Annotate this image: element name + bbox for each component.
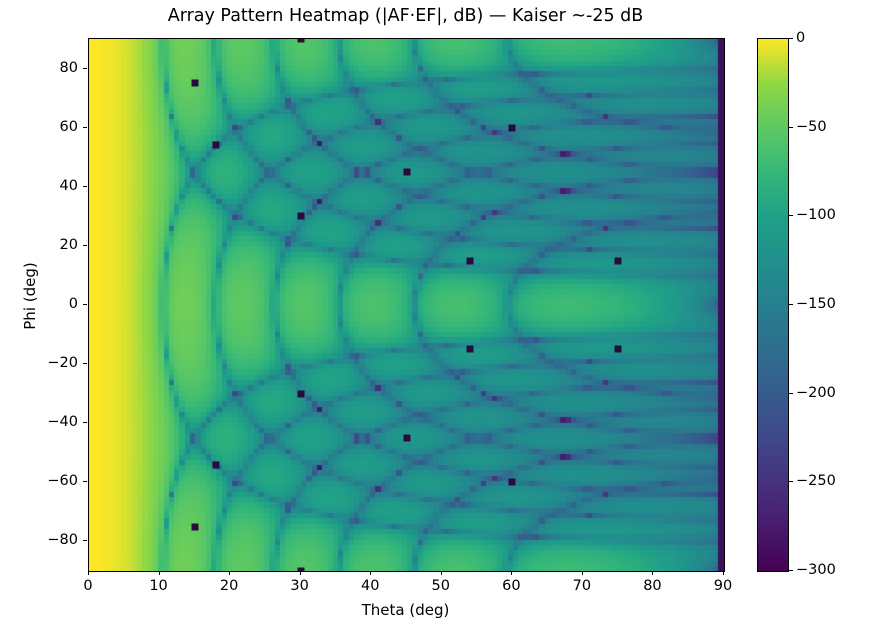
y-tick-label: 40 <box>60 178 78 194</box>
null-marker <box>297 38 304 43</box>
colorbar-tick-label: −200 <box>796 385 836 401</box>
null-marker <box>191 523 198 530</box>
colorbar-tick <box>789 215 793 216</box>
y-tick <box>83 481 87 482</box>
y-tick-label: −20 <box>47 355 78 371</box>
colorbar-tick-label: 0 <box>796 30 805 46</box>
y-tick <box>83 422 87 423</box>
colorbar-tick <box>789 570 793 571</box>
null-marker <box>213 142 220 149</box>
y-tick-label: −60 <box>47 473 78 489</box>
y-tick <box>83 68 87 69</box>
x-tick <box>652 571 653 575</box>
colorbar-tick <box>789 127 793 128</box>
x-tick <box>723 571 724 575</box>
colorbar-gradient <box>758 39 788 571</box>
x-tick-label: 40 <box>361 578 379 594</box>
colorbar-tick <box>789 38 793 39</box>
x-tick <box>88 571 89 575</box>
null-marker <box>297 568 304 573</box>
null-marker <box>297 390 304 397</box>
x-tick-label: 20 <box>220 578 238 594</box>
colorbar[interactable] <box>757 38 789 572</box>
y-tick-label: 0 <box>69 296 78 312</box>
y-tick-label: 80 <box>60 60 78 76</box>
null-marker-layer <box>89 39 724 571</box>
x-axis-label: Theta (deg) <box>88 601 723 619</box>
figure-canvas: Array Pattern Heatmap (|AF·EF|, dB) — Ka… <box>0 0 885 637</box>
y-axis-label: Phi (deg) <box>21 211 39 381</box>
x-tick-label: 30 <box>290 578 308 594</box>
y-tick <box>83 304 87 305</box>
null-marker <box>509 124 516 131</box>
x-tick-label: 0 <box>83 578 92 594</box>
null-marker <box>509 479 516 486</box>
x-tick-label: 50 <box>432 578 450 594</box>
colorbar-tick <box>789 304 793 305</box>
colorbar-tick-label: −100 <box>796 207 836 223</box>
y-tick <box>83 127 87 128</box>
x-tick <box>300 571 301 575</box>
x-tick <box>511 571 512 575</box>
y-tick-label: −40 <box>47 414 78 430</box>
y-tick <box>83 245 87 246</box>
y-tick-label: 60 <box>60 119 78 135</box>
null-marker <box>467 346 474 353</box>
y-tick <box>83 186 87 187</box>
null-marker <box>615 346 622 353</box>
null-marker <box>467 257 474 264</box>
y-tick-label: 20 <box>60 237 78 253</box>
null-marker <box>615 257 622 264</box>
null-marker <box>403 169 410 176</box>
x-tick-label: 80 <box>643 578 661 594</box>
x-tick <box>370 571 371 575</box>
colorbar-tick-label: −250 <box>796 473 836 489</box>
colorbar-tick-label: −150 <box>796 296 836 312</box>
x-tick <box>582 571 583 575</box>
y-tick <box>83 363 87 364</box>
null-marker <box>213 461 220 468</box>
x-tick-label: 60 <box>502 578 520 594</box>
page-title: Array Pattern Heatmap (|AF·EF|, dB) — Ka… <box>88 6 723 26</box>
y-tick-label: −80 <box>47 532 78 548</box>
x-tick <box>441 571 442 575</box>
x-tick <box>229 571 230 575</box>
colorbar-tick <box>789 481 793 482</box>
null-marker <box>403 435 410 442</box>
null-marker <box>297 213 304 220</box>
heatmap-plot-area[interactable] <box>88 38 725 572</box>
x-tick-label: 90 <box>714 578 732 594</box>
colorbar-tick-label: −50 <box>796 119 827 135</box>
colorbar-tick <box>789 393 793 394</box>
x-tick-label: 10 <box>149 578 167 594</box>
null-marker <box>191 80 198 87</box>
x-tick <box>159 571 160 575</box>
y-tick <box>83 540 87 541</box>
x-tick-label: 70 <box>573 578 591 594</box>
colorbar-tick-label: −300 <box>796 562 836 578</box>
